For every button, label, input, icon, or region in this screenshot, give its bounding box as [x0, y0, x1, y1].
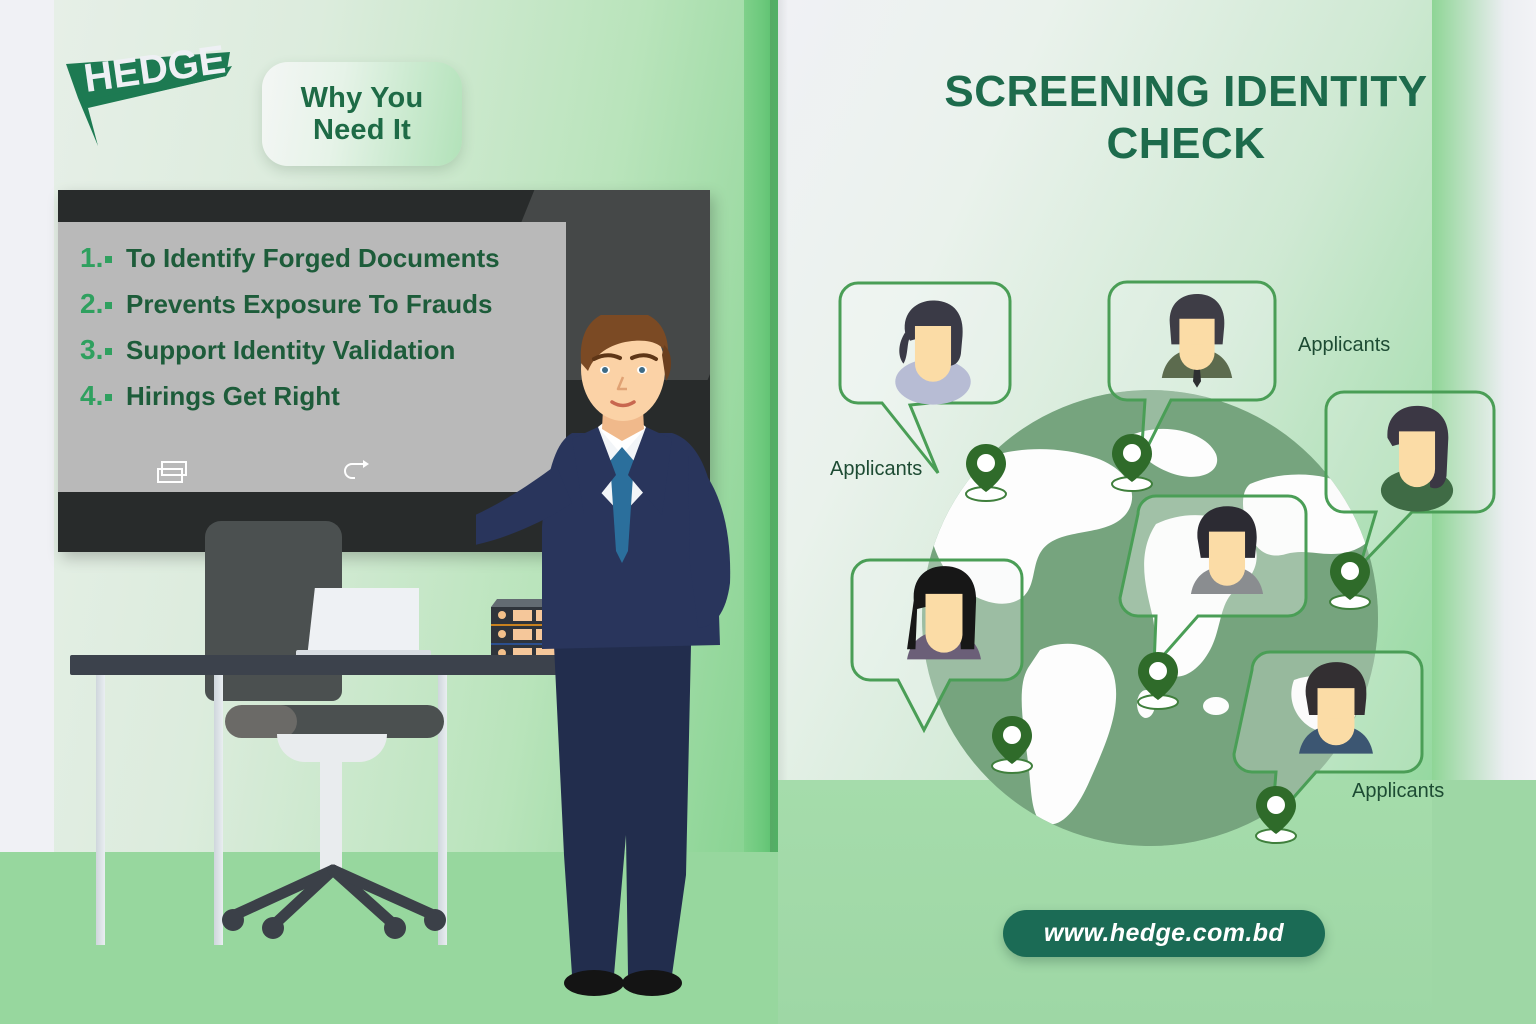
back-arrow-icon[interactable] [336, 458, 376, 486]
page-title: SCREENING IDENTITY CHECK [856, 66, 1516, 170]
applicant-card-top-center[interactable] [1105, 278, 1277, 400]
map-pin-icon[interactable] [962, 440, 1010, 507]
hedge-logo[interactable]: HEDGE [58, 34, 248, 154]
recent-apps-icon[interactable] [156, 460, 196, 488]
map-pin-icon[interactable] [1326, 548, 1374, 615]
website-url-text: www.hedge.com.bd [1044, 919, 1284, 948]
map-pin-icon[interactable] [1134, 648, 1182, 715]
badge-line-1: Why You [301, 82, 424, 114]
businessman-presenter [476, 315, 806, 1015]
list-item: 1. To Identify Forged Documents [80, 242, 560, 274]
office-chair-pole [320, 757, 342, 877]
hedge-logo-wordmark: HEDGE [81, 38, 228, 101]
map-pin-icon[interactable] [988, 712, 1036, 779]
website-url-pill[interactable]: www.hedge.com.bd [1003, 910, 1325, 957]
applicant-card-bottom-left[interactable] [848, 556, 1024, 688]
list-item-number: 2. [80, 288, 126, 320]
title-line-1: SCREENING IDENTITY [856, 66, 1516, 118]
list-item-number: 1. [80, 242, 126, 274]
why-you-need-it-badge: Why You Need It [262, 62, 462, 166]
list-item-number: 4. [80, 380, 126, 412]
list-item-text: Prevents Exposure To Frauds [126, 289, 493, 320]
applicant-card-center[interactable] [1134, 492, 1306, 620]
applicants-label-left: Applicants [830, 458, 922, 481]
infographic-canvas: HEDGE Why You Need It 1. To Identify For… [0, 0, 1536, 1024]
list-item-number: 3. [80, 334, 126, 366]
applicants-label-top-right: Applicants [1298, 334, 1390, 357]
applicant-card-top-left[interactable] [836, 279, 1014, 407]
list-item-text: Hirings Get Right [126, 381, 340, 412]
map-pin-icon[interactable] [1108, 430, 1156, 497]
list-item-text: Support Identity Validation [126, 335, 455, 366]
applicant-card-bottom-right[interactable] [1248, 648, 1424, 778]
title-line-2: CHECK [856, 118, 1516, 170]
badge-line-2: Need It [313, 114, 411, 146]
map-pin-icon[interactable] [1252, 782, 1300, 849]
list-item-text: To Identify Forged Documents [126, 243, 500, 274]
desk-leg [96, 675, 105, 945]
applicants-label-bottom-right: Applicants [1352, 780, 1444, 803]
laptop-screen [307, 588, 419, 658]
